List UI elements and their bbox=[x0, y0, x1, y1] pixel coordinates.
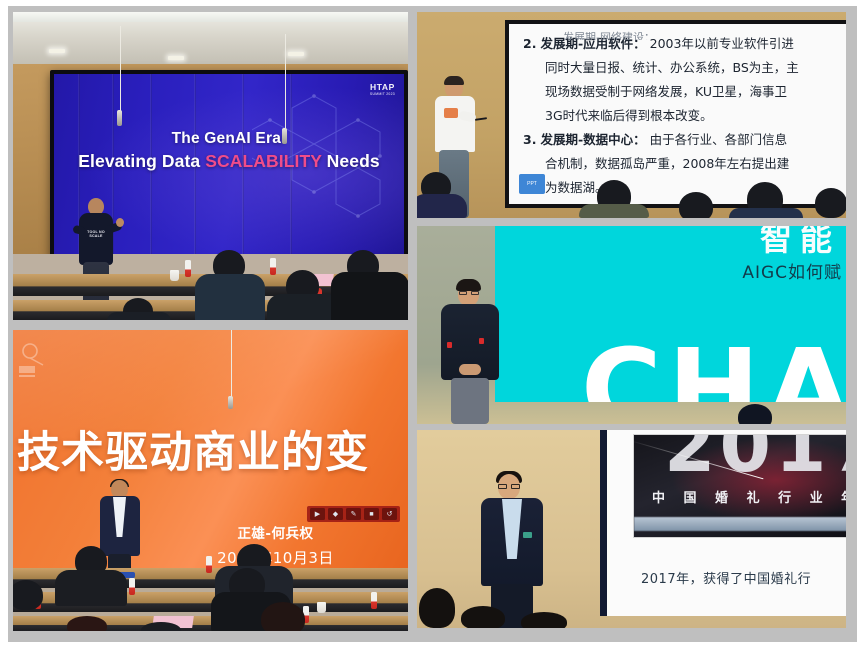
slide-subtitle: AIGC如何赋 bbox=[742, 258, 842, 283]
page-margin-bottom bbox=[0, 642, 857, 650]
speaker-genai: TOOL NO SCALE bbox=[75, 198, 119, 316]
audience-body-4 bbox=[729, 208, 803, 218]
presenter-badge-label: PPT bbox=[527, 181, 537, 187]
poster-ribbon-text: 中 国 婚 礼 行 业 年 度 颁 bbox=[652, 487, 846, 506]
slide-item-3-line2: 合机制，数据孤岛严重，2008年左右提出建 bbox=[523, 152, 846, 176]
audience-head-7 bbox=[141, 622, 181, 631]
brand-logo-icon bbox=[17, 342, 47, 380]
audience-head-3 bbox=[521, 612, 567, 628]
pen-icon[interactable]: ✎ bbox=[346, 508, 361, 520]
slide-item-2-line2: 同时大量日报、统计、办公系统，BS为主，主 bbox=[523, 56, 846, 80]
hoodie-print: TOOL NO SCALE bbox=[87, 230, 105, 242]
photo-chinese-ppt[interactable]: 发展期-网络建设： 2. 发展期-应用软件： 2003年以前专业软件引进 同时大… bbox=[417, 12, 846, 218]
water-bottle-1 bbox=[206, 556, 212, 573]
audience-head-1 bbox=[738, 404, 772, 424]
slide-presenter-block: 正雄-何兵权 2023年10月3日 bbox=[188, 522, 363, 568]
ceiling-spot-3 bbox=[288, 52, 304, 56]
presenter-name: 正雄-何兵权 bbox=[188, 522, 363, 542]
audience-body-1 bbox=[417, 194, 467, 218]
slide-title-keyword: SCALABILITY bbox=[205, 151, 321, 171]
slide-top-text: 智能 bbox=[760, 226, 840, 260]
page-margin-top bbox=[0, 0, 857, 6]
slide-headline: 技术驱动商业的变 bbox=[17, 418, 369, 480]
photo-genai-keynote[interactable]: The GenAI Era: Elevating Data SCALABILIT… bbox=[13, 12, 408, 320]
slide-aigc: 智能 AIGC如何赋 CHA bbox=[495, 226, 846, 402]
ceiling-light-strip bbox=[13, 12, 408, 22]
speaker-hands bbox=[459, 364, 481, 375]
water-bottle-1 bbox=[185, 260, 191, 277]
jacket-red-tab-left bbox=[447, 342, 452, 348]
award-poster-image: 2017 中 国 婚 礼 行 业 年 度 颁 bbox=[633, 434, 846, 538]
slide-title-pre: Elevating Data bbox=[78, 151, 205, 171]
lapel-pin-icon bbox=[523, 532, 532, 538]
hanging-microphone-2 bbox=[282, 128, 287, 144]
slide-item-2-line4: 3G时代来临后得到根本改变。 bbox=[523, 104, 846, 128]
audience-body-1 bbox=[55, 570, 127, 606]
pointer-icon[interactable]: ◆ bbox=[328, 508, 343, 520]
speaker-hair bbox=[444, 76, 464, 85]
htap-logo-text: HTAP bbox=[370, 82, 395, 92]
slide-ghost-line: 发展期-网络建设： bbox=[563, 26, 846, 40]
slide-title-line1: The GenAI Era: bbox=[54, 130, 404, 148]
slide-item-2-number: 2. bbox=[523, 36, 536, 51]
shirt-logo bbox=[444, 108, 458, 118]
speaker-aigc bbox=[441, 282, 503, 424]
slide-title-line2: Elevating Data SCALABILITY Needs bbox=[54, 151, 404, 172]
presenter-badge-icon[interactable]: PPT bbox=[519, 174, 545, 194]
presentation-date: 2023年10月3日 bbox=[188, 547, 363, 568]
audience-body-1 bbox=[195, 274, 265, 320]
photo-aigc-keynote[interactable]: 智能 AIGC如何赋 CHA bbox=[417, 226, 846, 424]
audience-body-4 bbox=[107, 312, 171, 320]
audience-head-2 bbox=[461, 606, 505, 628]
stage-beam bbox=[634, 517, 846, 531]
slide-title-post: Needs bbox=[322, 151, 380, 171]
audience-body-2 bbox=[579, 204, 649, 218]
audience-head-1 bbox=[419, 588, 455, 628]
ceiling-spot-1 bbox=[49, 49, 65, 53]
hanging-microphone-1 bbox=[228, 396, 233, 409]
slide-big-word: CHA bbox=[581, 334, 846, 402]
glasses-icon bbox=[459, 291, 479, 295]
photo-business-change-keynote[interactable]: 技术驱动商业的变 正雄-何兵权 2023年10月3日 ▶ ◆ ✎ ■ ↺ bbox=[13, 330, 408, 631]
photo-wedding-award-keynote[interactable]: 2017 中 国 婚 礼 行 业 年 度 颁 2017年，获得了中国婚礼行 bbox=[417, 430, 846, 628]
water-bottle-2 bbox=[270, 258, 276, 275]
paper-cup-1 bbox=[170, 270, 179, 281]
eraser-icon[interactable]: ■ bbox=[364, 508, 379, 520]
slide-title-block: The GenAI Era: Elevating Data SCALABILIT… bbox=[54, 130, 404, 172]
speaker-white-shirt bbox=[435, 96, 475, 152]
slide-item-3-text1: 由于各行业、各部门信息 bbox=[646, 132, 787, 147]
undo-icon[interactable]: ↺ bbox=[382, 508, 397, 520]
hanging-wire-1 bbox=[120, 26, 121, 112]
projection-screen: 2017 中 国 婚 礼 行 业 年 度 颁 2017年，获得了中国婚礼行 bbox=[607, 430, 846, 616]
slide-item-2-line3: 现场数据受制于网络发展，KU卫星，海事卫 bbox=[523, 80, 846, 104]
audience-head-6 bbox=[67, 616, 107, 631]
play-icon[interactable]: ▶ bbox=[310, 508, 325, 520]
jacket-red-tab-right bbox=[479, 338, 484, 344]
audience-body-2 bbox=[267, 294, 341, 320]
presentation-toolbar[interactable]: ▶ ◆ ✎ ■ ↺ bbox=[307, 506, 400, 522]
ceiling-spot-2 bbox=[168, 56, 184, 60]
hanging-wire-2 bbox=[285, 34, 286, 130]
audience-head-5 bbox=[815, 188, 846, 218]
htap-logo: HTAP SUMMIT 2023 bbox=[370, 83, 395, 96]
page-margin-left bbox=[0, 0, 8, 650]
ceiling bbox=[13, 12, 408, 70]
audience-head-5 bbox=[13, 580, 43, 610]
speaker-hand-right bbox=[116, 218, 124, 227]
slide-text-block: 发展期-网络建设： 2. 发展期-应用软件： 2003年以前专业软件引进 同时大… bbox=[523, 32, 846, 200]
slide-item-3-number: 3. bbox=[523, 132, 536, 147]
slide-item-3-heading: 发展期-数据中心： bbox=[540, 132, 645, 147]
slide-caption: 2017年，获得了中国婚礼行 bbox=[641, 568, 846, 587]
audience-body-3 bbox=[331, 272, 408, 320]
slide-orange: 技术驱动商业的变 正雄-何兵权 2023年10月3日 ▶ ◆ ✎ ■ ↺ bbox=[13, 330, 408, 572]
photo-collage: The GenAI Era: Elevating Data SCALABILIT… bbox=[0, 0, 857, 650]
water-bottle-4 bbox=[371, 592, 377, 609]
water-bottle-2 bbox=[129, 578, 135, 595]
glasses-icon bbox=[498, 484, 520, 489]
slide-item-3-line1: 3. 发展期-数据中心： 由于各行业、各部门信息 bbox=[523, 128, 846, 152]
paper-cup-1 bbox=[317, 602, 326, 613]
hanging-wire-1 bbox=[231, 330, 232, 398]
htap-logo-sub: SUMMIT 2023 bbox=[370, 93, 395, 96]
speaker-hair bbox=[456, 279, 481, 291]
hanging-microphone-1 bbox=[117, 110, 122, 126]
hoodie-print-line2: SCALE bbox=[87, 234, 105, 238]
audience-head-3 bbox=[679, 192, 713, 218]
audience-head-4 bbox=[261, 602, 305, 631]
speaker-wedding bbox=[479, 474, 545, 628]
speaker-pants bbox=[451, 378, 489, 424]
projection-screen: 发展期-网络建设： 2. 发展期-应用软件： 2003年以前专业软件引进 同时大… bbox=[505, 20, 846, 208]
